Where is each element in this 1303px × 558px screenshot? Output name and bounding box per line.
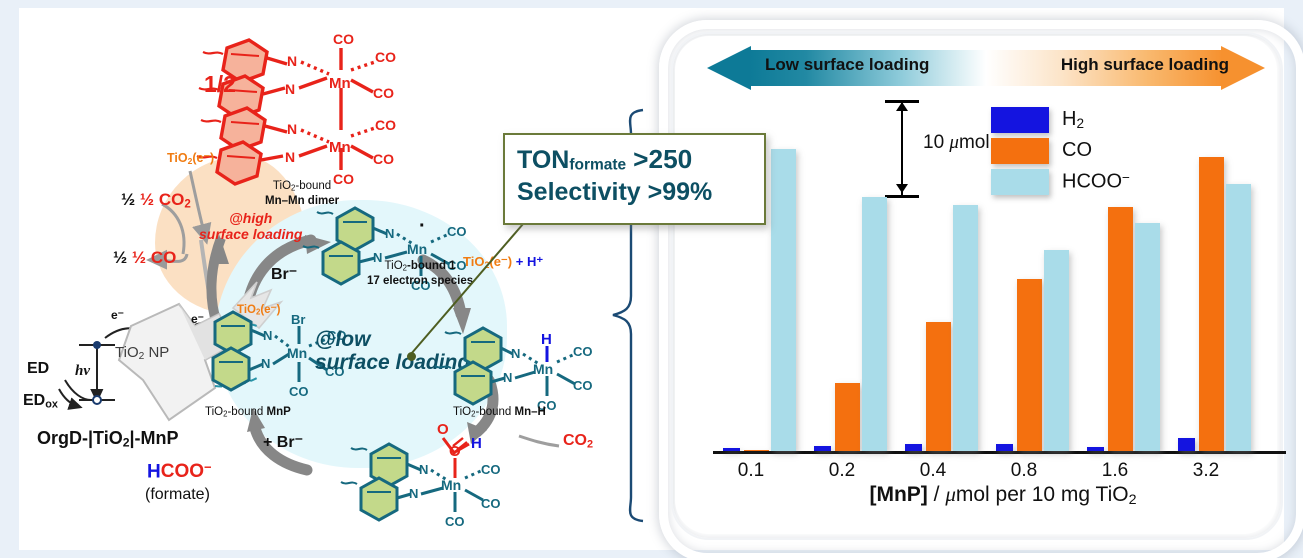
bar-co-0.8 <box>1017 279 1042 451</box>
svg-text:H: H <box>541 331 552 348</box>
arrow-left-icon <box>707 46 751 90</box>
stoichiometry-half-label: 1/2 <box>204 71 236 98</box>
svg-text:CO: CO <box>481 496 501 511</box>
svg-text:N: N <box>285 81 295 97</box>
svg-text:Mn: Mn <box>329 139 351 156</box>
tio2-electron-label-top: TiO2(e⁻) <box>167 150 214 166</box>
svg-text:N: N <box>409 486 418 501</box>
bar-hcoo-0.1 <box>771 149 796 451</box>
figure-root: NN NN Mn Mn CO CO CO CO CO CO 1/2 TiO2-b… <box>0 0 1303 558</box>
svg-text:CO: CO <box>481 462 501 477</box>
high-loading-label: High surface loading <box>1061 55 1229 75</box>
chart-x-axis <box>713 451 1286 454</box>
electron-label-1: e⁻ <box>111 308 124 322</box>
bar-hcoo-0.8 <box>1044 250 1069 451</box>
bar-hcoo-1.6 <box>1135 223 1160 451</box>
bar-h2-3.2 <box>1178 438 1195 451</box>
hv-label: hv <box>75 363 90 380</box>
x-tick-1.6: 1.6 <box>1080 460 1150 482</box>
half-co-label: ½ ½ CO <box>113 248 176 268</box>
bar-co-1.6 <box>1108 207 1133 451</box>
overall-system-label: OrgD-|TiO2|-MnP <box>37 428 179 450</box>
callout-leader-line <box>399 208 529 368</box>
bar-h2-1.6 <box>1087 447 1104 452</box>
svg-text:O: O <box>437 421 449 438</box>
chart-x-axis-label: [MnP] / μmol per 10 mg TiO2 <box>713 482 1293 508</box>
electron-donor-label: ED <box>27 360 49 378</box>
mnp-caption: TiO2-bound MnP <box>205 406 291 419</box>
svg-text:CO: CO <box>373 85 394 101</box>
svg-text:O: O <box>449 443 461 460</box>
x-tick-0.1: 0.1 <box>716 460 786 482</box>
key-results-callout: TONformate >250 Selectivity >99% <box>503 133 766 225</box>
callout-anchor-dot <box>407 352 416 361</box>
bar-hcoo-3.2 <box>1226 184 1251 451</box>
at-high-surface-loading-label: @highsurface loading <box>199 210 302 242</box>
mechanism-artwork: NN NN Mn Mn CO CO CO CO CO CO 1/2 TiO2-b… <box>19 8 659 553</box>
dimer-caption-l1: TiO <box>273 180 291 192</box>
svg-text:CO: CO <box>289 384 309 399</box>
x-tick-0.8: 0.8 <box>989 460 1059 482</box>
bar-hcoo-0.2 <box>862 197 887 451</box>
low-loading-label: Low surface loading <box>765 55 929 75</box>
bar-h2-0.8 <box>996 444 1013 452</box>
formate-paren-label: (formate) <box>145 486 210 504</box>
svg-text:CO: CO <box>573 378 593 393</box>
formate-product-label: HHCOOCOO− <box>147 460 212 483</box>
svg-text:N: N <box>419 462 428 477</box>
half-co2-label: ½ ½ CO2 <box>121 190 191 211</box>
svg-text:Mn: Mn <box>441 477 461 493</box>
product-yield-bar-chart: 0.10.20.40.81.63.2 <box>713 128 1293 458</box>
scale-arrow-up-icon <box>896 102 908 111</box>
x-tick-0.4: 0.4 <box>898 460 968 482</box>
tio2-np-label: TiO2 NP <box>115 344 169 362</box>
svg-text:CO: CO <box>373 151 394 167</box>
x-tick-0.2: 0.2 <box>807 460 877 482</box>
svg-text:CO: CO <box>573 344 593 359</box>
ton-line: TONformate >250 <box>517 144 692 175</box>
x-tick-3.2: 3.2 <box>1171 460 1241 482</box>
svg-text:N: N <box>287 121 297 137</box>
selectivity-line: Selectivity >99% <box>517 178 712 207</box>
bar-co-0.4 <box>926 322 951 451</box>
svg-text:N: N <box>287 53 297 69</box>
bar-hcoo-0.4 <box>953 205 978 451</box>
svg-text:CO: CO <box>333 31 354 47</box>
bar-h2-0.4 <box>905 444 922 452</box>
electron-donor-oxidized-label: EDox <box>23 392 58 410</box>
svg-text:N: N <box>503 370 512 385</box>
bar-co-0.2 <box>835 383 860 451</box>
svg-text:N: N <box>261 356 270 371</box>
svg-text:N: N <box>263 328 272 343</box>
svg-text:Br: Br <box>291 312 305 327</box>
figure-canvas: NN NN Mn Mn CO CO CO CO CO CO 1/2 TiO2-b… <box>19 8 1284 550</box>
svg-text:CO: CO <box>375 117 396 133</box>
co2-input-label: CO2 <box>563 432 593 450</box>
tio2-electron-label-mnp: TiO2(e⁻) <box>237 302 280 317</box>
svg-text:Mn: Mn <box>329 75 351 92</box>
bar-co-3.2 <box>1199 157 1224 451</box>
mn-formate-structure: NN Mn O O H CO CO CO <box>343 416 523 546</box>
bar-co-0.1 <box>744 450 769 452</box>
svg-text:CO: CO <box>445 514 465 529</box>
svg-text:N: N <box>385 226 394 241</box>
svg-text:H: H <box>471 435 482 452</box>
svg-text:CO: CO <box>375 49 396 65</box>
svg-text:N: N <box>285 149 295 165</box>
surface-loading-gradient-arrow: Low surface loading High surface loading <box>707 46 1265 90</box>
plus-bromide-label: + Br⁻ <box>263 432 303 452</box>
bar-h2-0.1 <box>723 448 740 452</box>
bromide-label: Br⁻ <box>271 264 297 284</box>
bar-h2-0.2 <box>814 446 831 452</box>
svg-text:Mn: Mn <box>533 361 553 377</box>
svg-text:Mn: Mn <box>287 345 307 361</box>
electron-label-2: e⁻ <box>191 312 204 326</box>
